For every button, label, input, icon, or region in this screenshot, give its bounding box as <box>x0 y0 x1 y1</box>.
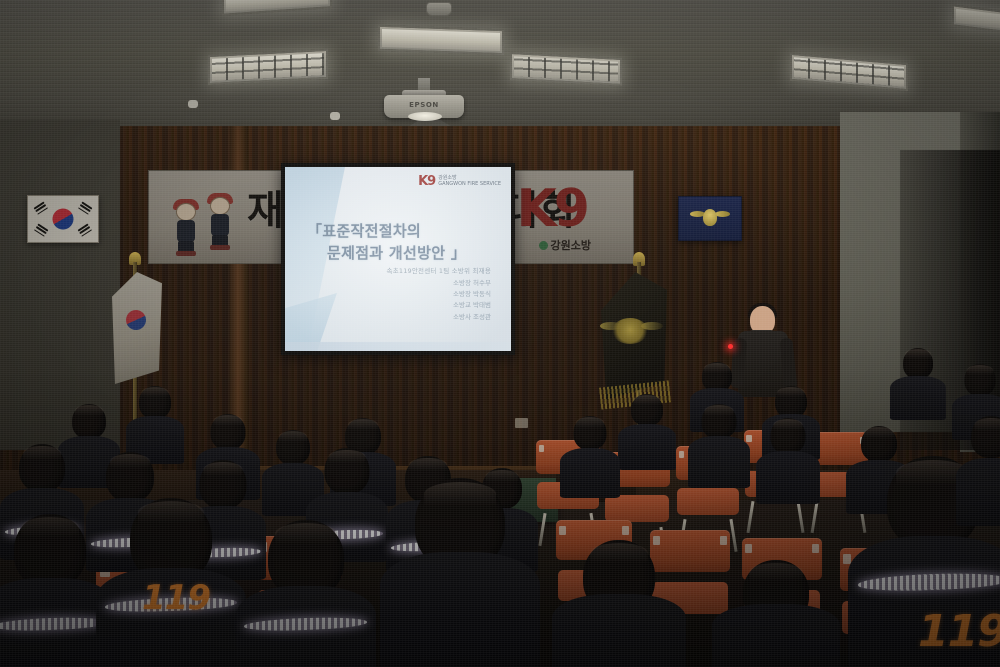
audience-body <box>688 436 750 488</box>
recessed-fluorescent-light <box>510 52 622 86</box>
audience-hair-highlight <box>774 419 803 430</box>
audience-hair-highlight <box>275 523 337 544</box>
audience-body <box>890 376 946 420</box>
slide-author-0: 속초119안전센터 1팀 소방위 최재용 <box>387 266 491 277</box>
projector-lens-icon <box>408 112 442 121</box>
audience-body <box>956 458 1000 526</box>
fire-service-emblem-flag <box>678 196 742 241</box>
slide-title-close-bracket: 」 <box>451 244 466 262</box>
mascot-head <box>210 197 230 215</box>
slide-logo: K9 강원소방 GANGWON FIRE SERVICE <box>418 174 501 189</box>
slide-footer-bar <box>285 342 511 351</box>
audience-hair-highlight <box>975 418 1000 431</box>
smoke-detector-icon <box>426 2 452 16</box>
slide-author-3: 소방교 박태범 <box>387 300 491 311</box>
chair-bolt <box>539 445 545 453</box>
mascot-head <box>176 203 196 221</box>
chair-bolt <box>679 451 685 459</box>
chair-bolt <box>720 536 727 545</box>
slide-title-line2: 문제점과 개선방안 <box>327 244 445 262</box>
audience-member <box>380 478 540 667</box>
trigram-icon <box>34 223 49 237</box>
mascot-boots <box>176 251 196 256</box>
audience-hair-highlight <box>23 446 61 460</box>
slide-title-open-bracket: 「 <box>307 222 322 240</box>
slide-logo-mark: K9 <box>418 174 435 189</box>
recessed-fluorescent-light <box>378 25 504 55</box>
projector-body: EPSON <box>384 95 464 118</box>
audience-member <box>756 418 820 504</box>
audience-body <box>552 594 686 667</box>
trigram-icon <box>78 223 93 237</box>
light-tube <box>382 29 500 51</box>
banner-org-text: 강원소방 <box>551 239 591 252</box>
ceiling-projector: EPSON <box>378 86 470 126</box>
chair-bolt <box>812 544 819 553</box>
audience-member <box>712 560 840 667</box>
audience-hair-highlight <box>749 563 803 581</box>
mascot-body <box>177 220 195 242</box>
uniform-badge-119: 119 <box>918 606 1000 657</box>
audience-hair-highlight <box>348 419 378 430</box>
chair-seat <box>605 495 668 522</box>
slide-author-4: 소방사 조성관 <box>387 312 491 323</box>
audience-member <box>552 540 686 667</box>
audience-body <box>618 424 676 470</box>
trigram-icon <box>78 201 93 215</box>
slide-author-list: 속초119안전센터 1팀 소방위 최재용 소방장 허수부 소방장 박동식 소방교… <box>387 266 491 323</box>
banner-org-dot-icon <box>539 241 548 250</box>
audience-hair-highlight <box>424 482 496 506</box>
winged-emblem-icon <box>690 208 730 230</box>
audience-hair-highlight <box>634 395 661 405</box>
light-grille <box>212 53 324 81</box>
audience-hair-highlight <box>214 415 243 426</box>
sprinkler-head-icon <box>330 112 340 120</box>
chair-bolt <box>559 526 566 535</box>
ceremonial-flag-emblem-icon <box>612 318 648 344</box>
audience-hair-highlight <box>705 405 734 416</box>
slide-logo-org: 강원소방 GANGWON FIRE SERVICE <box>438 176 501 188</box>
trigram-icon <box>34 201 49 215</box>
wall-outlet-icon <box>515 418 528 428</box>
emblem-wing-right <box>715 211 730 217</box>
taeguk-symbol-icon <box>49 205 78 234</box>
audience-member <box>618 394 676 470</box>
emblem-core <box>703 209 717 226</box>
audience-hair-highlight <box>590 543 648 563</box>
audience-hair-highlight <box>967 365 993 375</box>
lecture-hall-photo: EPSON 재난 대회 K9 강원소방 <box>0 0 1000 667</box>
audience-hair-highlight <box>21 517 79 537</box>
slide-title-line2-wrap: 문제점과 개선방안 」 <box>307 243 499 265</box>
mascot-boots <box>210 245 230 250</box>
mascot-body <box>211 214 229 236</box>
light-grille <box>514 56 618 81</box>
chair-seat <box>677 488 738 515</box>
projector-brand-label: EPSON <box>384 101 464 109</box>
audience-body <box>560 448 620 498</box>
audience-hair-highlight <box>864 427 894 438</box>
taegukgi-flag <box>27 195 99 243</box>
audience-hair-highlight <box>204 462 243 476</box>
audience-member <box>890 348 946 420</box>
firefighter-mascot-icon <box>207 197 233 249</box>
audience-body <box>712 604 840 667</box>
projection-screen: K9 강원소방 GANGWON FIRE SERVICE 「표준작전절차의 문제… <box>285 167 511 351</box>
audience-body <box>756 451 820 504</box>
audience-hair-highlight <box>576 417 604 428</box>
audience-hair-highlight <box>75 405 103 416</box>
banner-org-label: 강원소방 <box>539 237 591 253</box>
audience-hair-highlight <box>778 387 805 397</box>
recessed-fluorescent-light <box>208 49 328 85</box>
audience-body <box>380 552 540 667</box>
sprinkler-head-icon <box>188 100 198 108</box>
slide-title: 「표준작전절차의 문제점과 개선방안 」 <box>307 221 499 265</box>
laser-pointer-dot-icon <box>728 344 733 349</box>
audience-hair-highlight <box>329 450 366 463</box>
slide-author-1: 소방장 허수부 <box>387 278 491 289</box>
light-grille <box>794 57 904 87</box>
audience-member <box>956 416 1000 526</box>
audience-member <box>236 520 376 667</box>
audience-member <box>560 416 620 498</box>
audience-hair-highlight <box>110 454 150 468</box>
audience-hair-highlight <box>409 458 447 471</box>
audience-hair-highlight <box>279 431 307 442</box>
audience-member <box>688 404 750 488</box>
slide-logo-org-sub: GANGWON FIRE SERVICE <box>438 181 501 187</box>
slide-author-2: 소방장 박동식 <box>387 289 491 300</box>
slide-title-line1: 표준작전절차의 <box>322 222 421 240</box>
audience-hair-highlight <box>905 349 931 359</box>
left-grey-wall <box>0 120 120 450</box>
light-tube <box>956 9 1000 29</box>
chair-bolt <box>622 526 629 535</box>
uniform-badge-119: 119 <box>142 578 210 618</box>
chair-bolt <box>745 544 752 553</box>
audience-hair-highlight <box>704 363 730 373</box>
firefighter-mascot-icon <box>173 203 199 255</box>
projection-screen-frame: K9 강원소방 GANGWON FIRE SERVICE 「표준작전절차의 문제… <box>281 163 515 355</box>
audience-hair-highlight <box>138 501 204 523</box>
banner-k9-logo: K9 <box>517 183 587 235</box>
audience-hair-highlight <box>142 387 169 397</box>
